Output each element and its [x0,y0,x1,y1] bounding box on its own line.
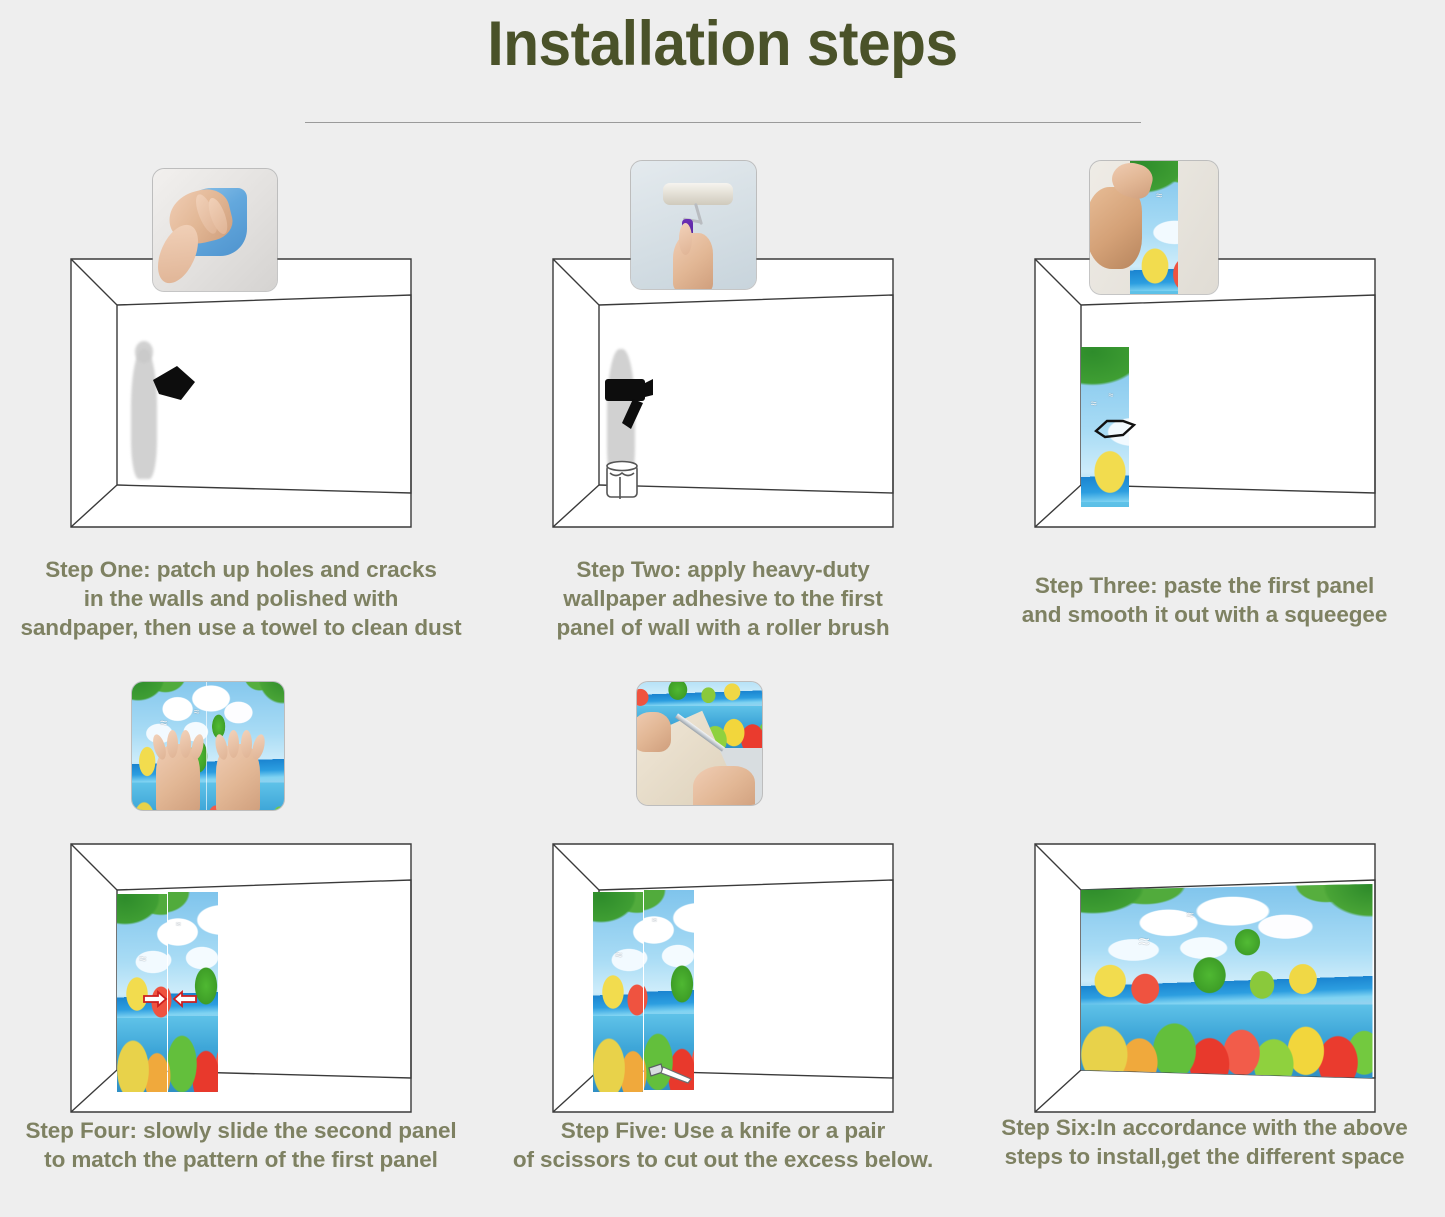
caption-line: Step Six:In accordance with the above [972,1114,1437,1143]
panel-seam [206,682,207,810]
hand-finger [241,730,252,758]
room-illustration-step-five: ≈ ≈ [551,842,895,1114]
photo-thumbnail-step-five [637,682,762,805]
caption-line: Step One: patch up holes and cracks [8,556,474,585]
seagull-icon: ≈ [194,708,200,718]
hand-icon [637,712,671,752]
caption-line: Step Two: apply heavy-duty [490,556,956,585]
seagull-icon: ≈ [1139,932,1150,952]
seagull-icon: ≈ [615,948,622,961]
mural-full-wall: ≈ ≈ [1081,884,1373,1078]
step-card-two: Step Two: apply heavy-duty wallpaper adh… [482,152,964,682]
room-illustration-step-three: ≈ ≈ [1033,257,1377,529]
caption-step-three: Step Three: paste the first panel and sm… [964,572,1445,630]
step-card-four: ≈ ≈ ≈ ≈ [0,682,482,1210]
caption-step-six: Step Six:In accordance with the above st… [964,1114,1445,1172]
arm-icon [1090,187,1142,269]
hand-finger [167,730,178,758]
seagull-icon: ≈ [139,952,146,965]
person-silhouette-head [135,341,153,363]
caption-line: wallpaper adhesive to the first [490,585,956,614]
step-card-six: ≈ ≈ Step Six:In accordance with the abov… [964,682,1445,1210]
installation-steps-grid: Step One: patch up holes and cracks in t… [0,152,1445,1210]
room-outline-svg [69,257,413,529]
paint-bucket-icon [603,457,643,505]
caption-line: Step Five: Use a knife or a pair [490,1117,956,1146]
caption-step-five: Step Five: Use a knife or a pair of scis… [482,1117,964,1175]
hand-icon [693,766,755,805]
caption-step-four: Step Four: slowly slide the second panel… [0,1117,482,1175]
caption-line: of scissors to cut out the excess below. [490,1146,956,1175]
seagull-icon: ≈ [160,716,167,729]
photo-thumbnail-step-three: ≈ [1090,161,1218,294]
panel-seam [643,891,644,1097]
caption-step-two: Step Two: apply heavy-duty wallpaper adh… [482,556,964,642]
paint-roller-icon [603,373,665,441]
caption-line: sandpaper, then use a towel to clean dus… [8,614,474,643]
caption-line: Step Three: paste the first panel [972,572,1437,601]
room-illustration-step-six: ≈ ≈ [1033,842,1377,1114]
step-card-one: Step One: patch up holes and cracks in t… [0,152,482,682]
seagull-icon: ≈ [1109,391,1114,400]
seagull-icon: ≈ [1091,399,1097,410]
caption-line: Step Four: slowly slide the second panel [8,1117,474,1146]
photo-thumbnail-step-one [153,169,277,291]
photo-thumbnail-step-four: ≈ ≈ [132,682,284,810]
seagull-icon: ≈ [1156,191,1162,202]
page-title: Installation steps [51,0,1395,80]
hand-finger [228,730,239,758]
mural-panel-one: ≈ [593,892,643,1096]
squeegee-icon [1093,415,1137,441]
match-arrows-icon [142,990,198,1008]
caption-line: panel of wall with a roller brush [490,614,956,643]
title-divider [305,122,1141,123]
seagull-icon: ≈ [176,920,181,929]
caption-line: and smooth it out with a squeegee [972,601,1437,630]
step-card-three: ≈ ≈ ≈ Step Three: paste the f [964,152,1445,682]
hand-finger [180,730,191,758]
towel-icon [149,362,199,404]
mural-artwork: ≈ ≈ [1081,884,1373,1078]
roller-sleeve [663,183,733,205]
caption-line: to match the pattern of the first panel [8,1146,474,1175]
step-card-five: ≈ ≈ St [482,682,964,1210]
room-illustration-step-one [69,257,413,529]
caption-line: in the walls and polished with [8,585,474,614]
room-illustration-step-four: ≈ ≈ [69,842,413,1114]
hand-finger [679,223,692,255]
room-illustration-step-two [551,257,895,529]
caption-line: steps to install,get the different space [972,1143,1437,1172]
utility-knife-icon [647,1060,693,1084]
caption-step-one: Step One: patch up holes and cracks in t… [0,556,482,642]
seagull-icon: ≈ [1187,908,1194,921]
photo-thumbnail-step-two [631,161,756,289]
seagull-icon: ≈ [652,916,657,925]
